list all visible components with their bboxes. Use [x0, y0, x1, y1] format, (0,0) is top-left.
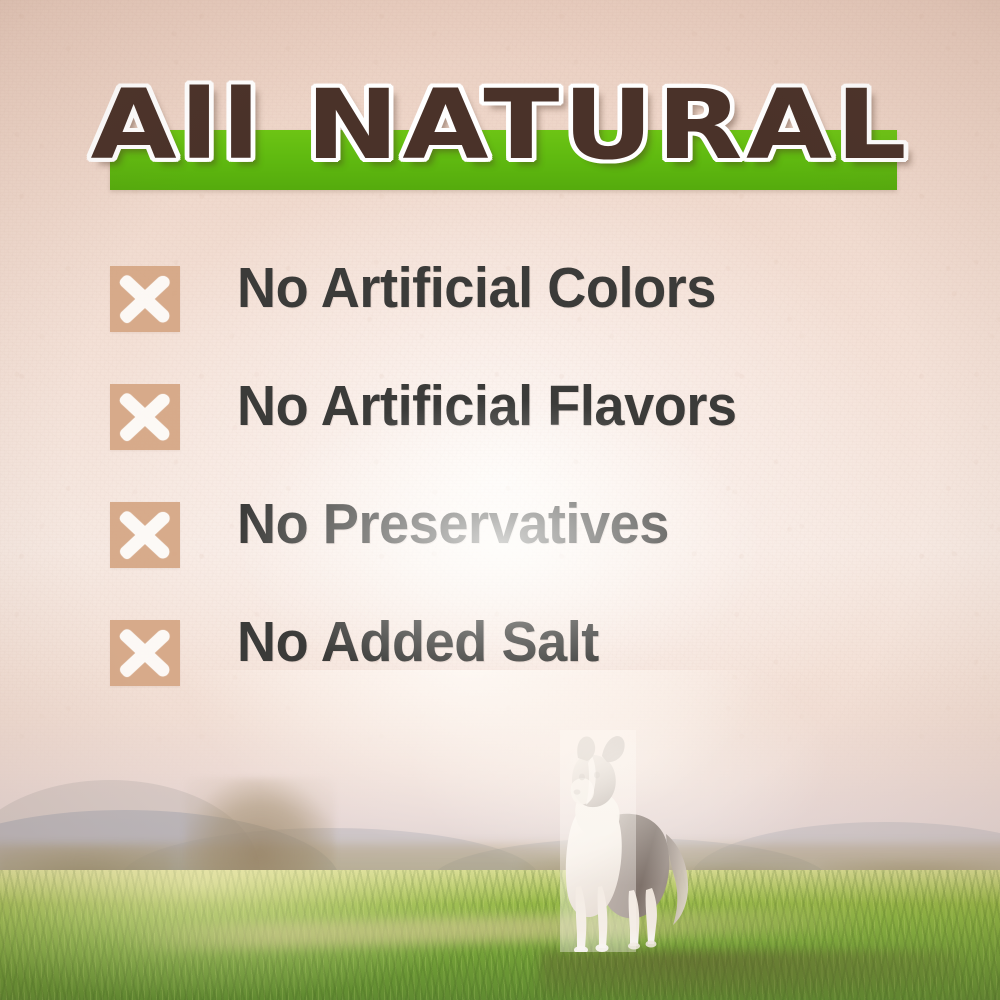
dirt-mound: [540, 950, 960, 1000]
list-item: No Added Salt: [0, 606, 1000, 724]
x-mark-icon: [110, 502, 180, 568]
list-item: No Artificial Colors: [0, 252, 1000, 370]
list-item: No Preservatives: [0, 488, 1000, 606]
feature-label: No Artificial Colors: [237, 252, 716, 317]
feature-label: No Preservatives: [237, 488, 669, 553]
dog-photo: [540, 730, 710, 952]
x-mark-icon: [110, 266, 180, 332]
list-item: No Artificial Flavors: [0, 370, 1000, 488]
x-mark-icon: [110, 384, 180, 450]
feature-list: No Artificial Colors No Artificial Flavo…: [0, 252, 1000, 724]
page-title: All NATURAL: [0, 70, 1000, 180]
page-title-text: All NATURAL: [90, 77, 910, 173]
feature-label: No Artificial Flavors: [237, 370, 737, 435]
x-mark-icon: [110, 620, 180, 686]
feature-label: No Added Salt: [237, 606, 599, 671]
poster-root: All NATURAL No Artificial Colors No Arti…: [0, 0, 1000, 1000]
